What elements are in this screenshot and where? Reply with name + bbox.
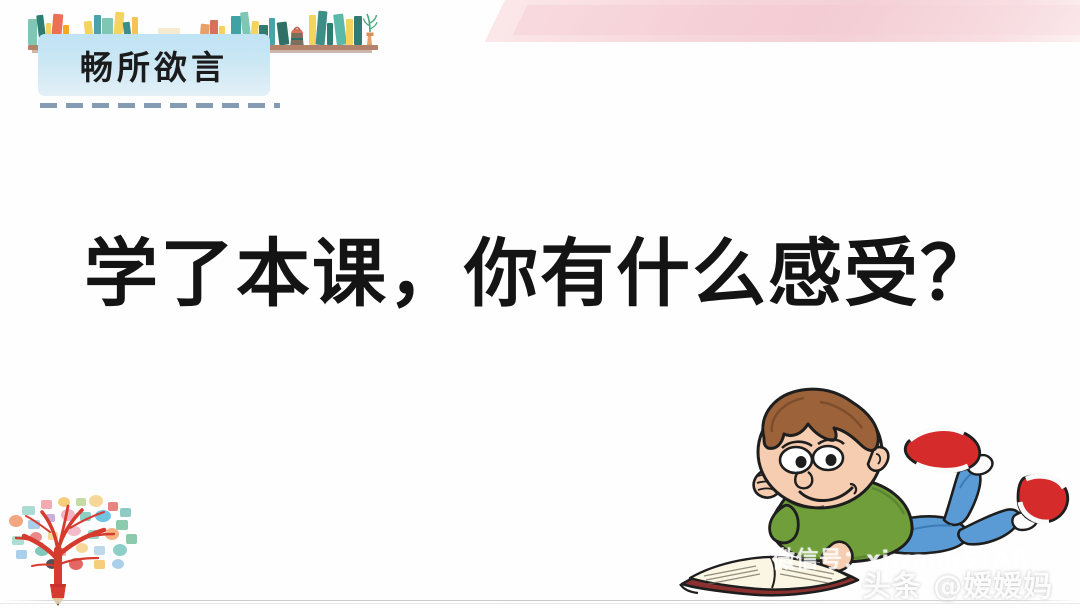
main-question-text: 学了本课，你有什么感受？ <box>0 214 1080 321</box>
banner-title: 畅所欲言 <box>80 41 228 89</box>
banner-dashed-underline <box>40 103 280 108</box>
boy-shoes <box>905 428 1068 522</box>
watermark-toutiao: 头条 @嫒嫒妈 <box>862 563 1053 605</box>
pink-corner-ribbon-inner <box>513 5 1080 35</box>
section-banner: 畅所欲言 <box>38 34 270 96</box>
tree-leaf-icons <box>9 495 137 570</box>
bottom-divider <box>0 600 1080 601</box>
pencil-tree-illustration <box>8 488 158 606</box>
bottom-divider-soft <box>0 603 1080 604</box>
slide-canvas: 畅所欲言 学了本课，你有什么感受？ <box>0 0 1080 608</box>
